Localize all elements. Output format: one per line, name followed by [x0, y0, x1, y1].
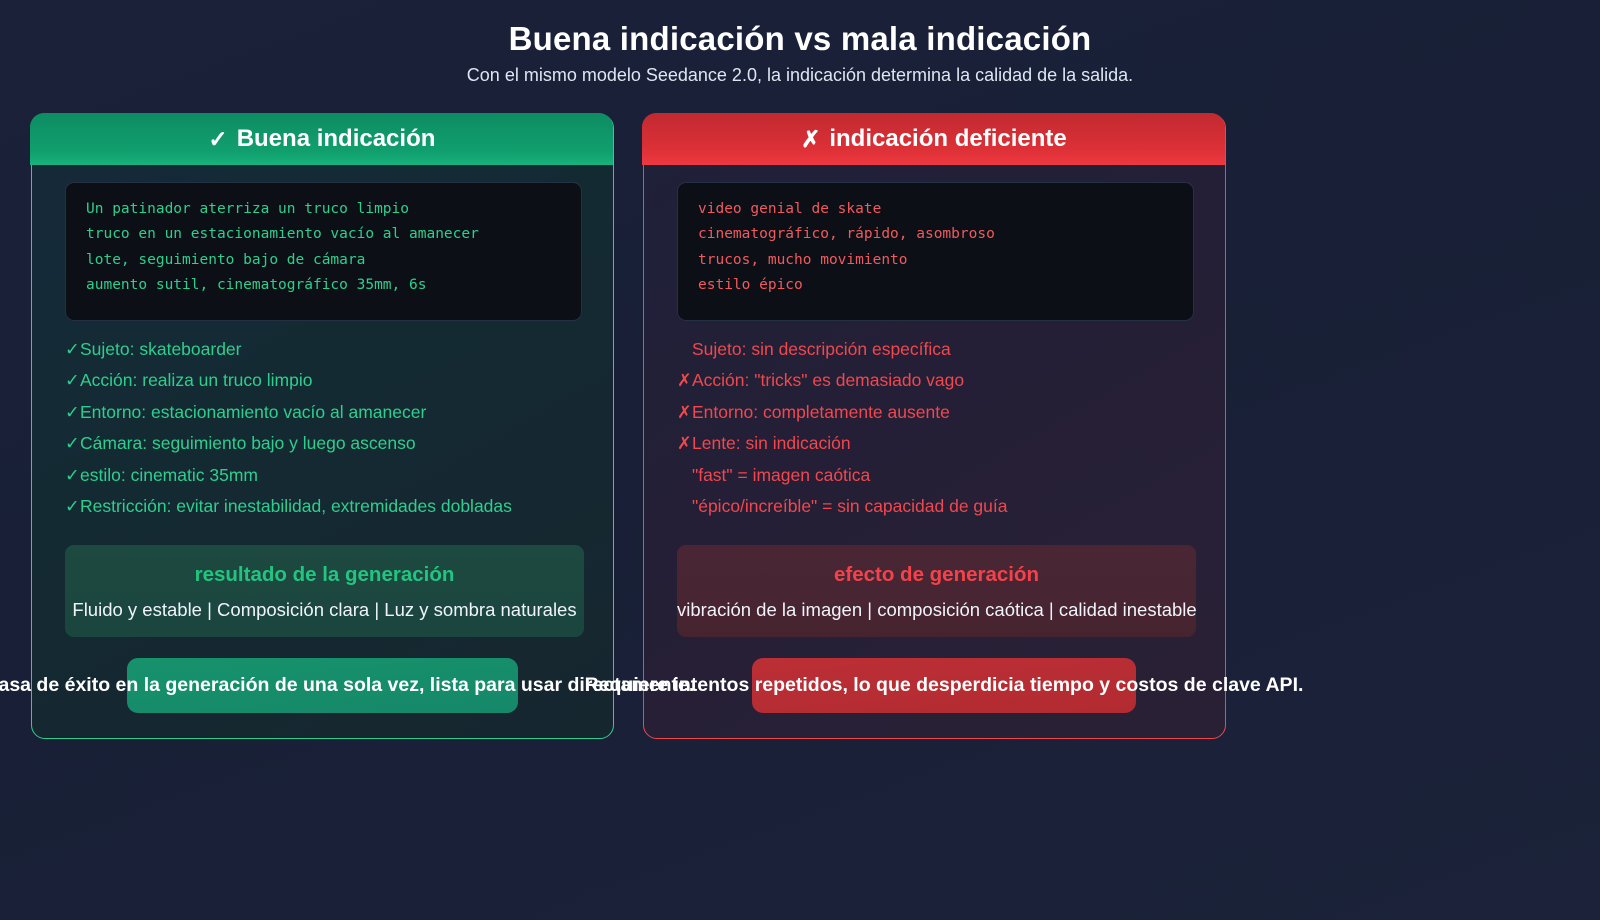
- good-analysis-list: ✓Sujeto: skateboarder ✓Acción: realiza u…: [65, 334, 605, 522]
- good-card-header: ✓ Buena indicación: [30, 113, 613, 165]
- list-item: Sujeto: sin descripción específica: [677, 334, 1217, 365]
- list-item-label: Acción: realiza un truco limpio: [80, 370, 312, 390]
- list-item: ✓estilo: cinematic 35mm: [65, 460, 605, 491]
- comparison-page: Buena indicación vs mala indicación Con …: [0, 0, 1600, 920]
- check-mark-icon: ✓: [65, 460, 80, 491]
- check-mark-icon: ✓: [65, 428, 80, 459]
- list-item: ✗Acción: "tricks" es demasiado vago: [677, 365, 1217, 396]
- list-item-label: Entorno: estacionamiento vacío al amanec…: [80, 402, 426, 422]
- bad-prompt-card: ✗ indicación deficiente video genial de …: [643, 114, 1226, 739]
- good-result-title: resultado de la generación: [65, 563, 584, 587]
- bad-card-title: indicación deficiente: [829, 125, 1066, 153]
- list-item: ✓Restricción: evitar inestabilidad, extr…: [65, 491, 605, 522]
- list-item-label: Acción: "tricks" es demasiado vago: [692, 370, 964, 390]
- check-mark-icon: ✓: [208, 126, 227, 153]
- good-prompt-card: ✓ Buena indicación Un patinador aterriza…: [31, 114, 614, 739]
- list-item-label: Entorno: completamente ausente: [692, 402, 950, 422]
- bad-result-detail: vibración de la imagen | composición caó…: [677, 599, 1196, 621]
- check-mark-icon: ✓: [65, 397, 80, 428]
- list-item: "épico/increíble" = sin capacidad de guí…: [677, 491, 1217, 522]
- list-item-label: Sujeto: sin descripción específica: [692, 339, 951, 359]
- cross-mark-icon: ✗: [677, 428, 692, 459]
- list-item: ✗Lente: sin indicación: [677, 428, 1217, 459]
- cross-mark-icon: ✗: [801, 126, 820, 153]
- list-item-label: Restricción: evitar inestabilidad, extre…: [80, 496, 512, 516]
- check-mark-icon: ✓: [65, 491, 80, 522]
- bad-result-title: efecto de generación: [677, 563, 1196, 587]
- list-item-label: Lente: sin indicación: [692, 433, 851, 453]
- bad-card-header: ✗ indicación deficiente: [642, 113, 1225, 165]
- list-item: ✓Acción: realiza un truco limpio: [65, 365, 605, 396]
- page-subtitle: Con el mismo modelo Seedance 2.0, la ind…: [0, 65, 1600, 86]
- check-mark-icon: ✓: [65, 365, 80, 396]
- list-item-label: Sujeto: skateboarder: [80, 339, 242, 359]
- good-card-title: Buena indicación: [237, 125, 436, 153]
- check-mark-icon: ✓: [65, 334, 80, 365]
- bad-result-box: efecto de generación vibración de la ima…: [677, 545, 1196, 637]
- bad-summary-text: Requiere intentos repetidos, lo que desp…: [585, 671, 1304, 699]
- list-item-label: "épico/increíble" = sin capacidad de guí…: [692, 496, 1007, 516]
- list-item-label: Cámara: seguimiento bajo y luego ascenso: [80, 433, 416, 453]
- list-item: "fast" = imagen caótica: [677, 460, 1217, 491]
- list-item: ✗Entorno: completamente ausente: [677, 397, 1217, 428]
- bad-prompt-text: video genial de skate cinematográfico, r…: [677, 182, 1194, 321]
- list-item-label: estilo: cinematic 35mm: [80, 465, 258, 485]
- list-item-label: "fast" = imagen caótica: [692, 465, 870, 485]
- page-title: Buena indicación vs mala indicación: [0, 20, 1600, 58]
- good-prompt-text: Un patinador aterriza un truco limpio tr…: [65, 182, 582, 321]
- bad-analysis-list: Sujeto: sin descripción específica ✗Acci…: [677, 334, 1217, 522]
- cross-mark-icon: ✗: [677, 397, 692, 428]
- cross-mark-icon: ✗: [677, 365, 692, 396]
- list-item: ✓Entorno: estacionamiento vacío al amane…: [65, 397, 605, 428]
- list-item: ✓Cámara: seguimiento bajo y luego ascens…: [65, 428, 605, 459]
- good-result-box: resultado de la generación Fluido y esta…: [65, 545, 584, 637]
- list-item: ✓Sujeto: skateboarder: [65, 334, 605, 365]
- good-result-detail: Fluido y estable | Composición clara | L…: [65, 599, 584, 621]
